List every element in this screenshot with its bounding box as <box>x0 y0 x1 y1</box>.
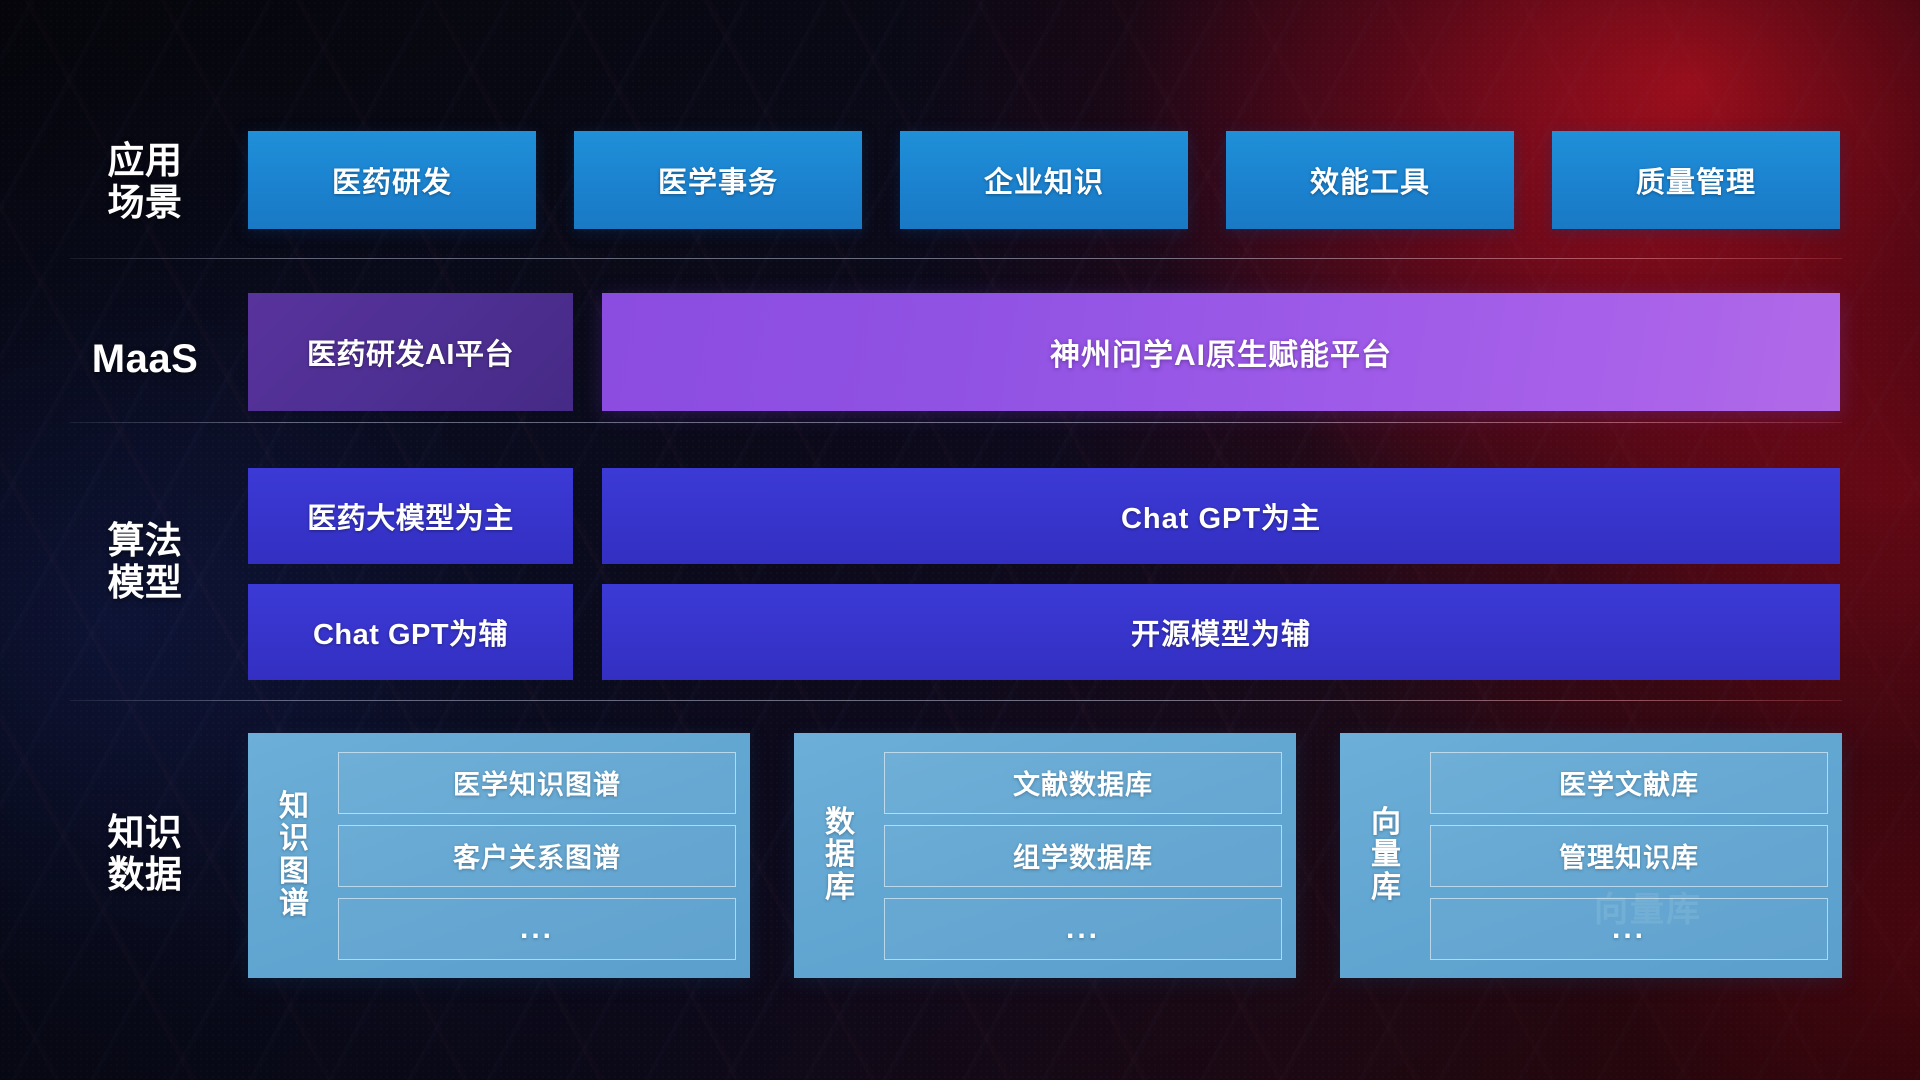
group-title-char: 向 <box>1371 807 1401 839</box>
maas-box-shenzhou-wenxue-platform[interactable]: 神州问学AI原生赋能平台 <box>602 293 1840 411</box>
group-title-char: 库 <box>825 872 855 904</box>
app-box-enterprise-knowledge[interactable]: 企业知识 <box>900 131 1188 229</box>
app-box-medical-affairs[interactable]: 医学事务 <box>574 131 862 229</box>
knowledge-group-knowledge-graph[interactable]: 知 识 图 谱 医学知识图谱 客户关系图谱 ... <box>248 733 750 978</box>
app-box-label: 医学事务 <box>658 159 778 201</box>
divider-after-maas <box>70 422 1842 423</box>
row-label-line: 知识 <box>70 812 220 854</box>
knowledge-item-label: ... <box>520 912 554 946</box>
maas-box-label: 医药研发AI平台 <box>307 331 514 373</box>
row-label-line: 模型 <box>70 562 220 604</box>
knowledge-group-database[interactable]: 数 据 库 文献数据库 组学数据库 ... <box>794 733 1296 978</box>
app-box-label: 医药研发 <box>332 159 452 201</box>
algo-box-chatgpt-secondary[interactable]: Chat GPT为辅 <box>248 584 573 680</box>
algo-box-chatgpt-primary[interactable]: Chat GPT为主 <box>602 468 1840 564</box>
group-title-char: 据 <box>825 839 855 871</box>
knowledge-group-vector-store[interactable]: 向 量 库 医学文献库 管理知识库 ... <box>1340 733 1842 978</box>
app-box-medicine-rd[interactable]: 医药研发 <box>248 131 536 229</box>
row-label-line: 算法 <box>70 520 220 562</box>
maas-box-medicine-rd-ai-platform[interactable]: 医药研发AI平台 <box>248 293 573 411</box>
algo-box-medicine-large-model-primary[interactable]: 医药大模型为主 <box>248 468 573 564</box>
knowledge-item-more[interactable]: ... <box>338 898 736 960</box>
app-box-label: 企业知识 <box>984 159 1104 201</box>
knowledge-item-label: ... <box>1066 912 1100 946</box>
group-title-char: 识 <box>279 823 309 855</box>
knowledge-item-more[interactable]: ... <box>884 898 1282 960</box>
knowledge-item-medical-literature-store[interactable]: 医学文献库 <box>1430 752 1828 814</box>
group-title-char: 知 <box>279 791 309 823</box>
row-label-application-scenarios: 应用 场景 <box>70 140 220 224</box>
algo-box-label: 开源模型为辅 <box>1131 611 1311 653</box>
group-title-char: 图 <box>279 856 309 888</box>
app-box-efficiency-tools[interactable]: 效能工具 <box>1226 131 1514 229</box>
group-title-char: 库 <box>1371 872 1401 904</box>
knowledge-item-label: 医学文献库 <box>1559 763 1699 802</box>
knowledge-item-management-knowledge-store[interactable]: 管理知识库 <box>1430 825 1828 887</box>
row-label-knowledge-data: 知识 数据 <box>70 812 220 896</box>
group-title-char: 数 <box>825 807 855 839</box>
row-label-algorithm-model: 算法 模型 <box>70 520 220 604</box>
algo-box-open-source-model-secondary[interactable]: 开源模型为辅 <box>602 584 1840 680</box>
group-title-char: 谱 <box>279 888 309 920</box>
row-label-line: 应用 <box>70 140 220 182</box>
row-label-line: 数据 <box>70 854 220 896</box>
knowledge-item-literature-database[interactable]: 文献数据库 <box>884 752 1282 814</box>
knowledge-item-omics-database[interactable]: 组学数据库 <box>884 825 1282 887</box>
knowledge-group-items: 文献数据库 组学数据库 ... <box>884 752 1282 960</box>
knowledge-item-customer-relation-graph[interactable]: 客户关系图谱 <box>338 825 736 887</box>
row-label-line: MaaS <box>70 337 220 383</box>
row-label-line: 场景 <box>70 182 220 224</box>
app-box-label: 效能工具 <box>1310 159 1430 201</box>
knowledge-group-items: 医学文献库 管理知识库 ... <box>1430 752 1828 960</box>
diagram-content: 应用 场景 医药研发 医学事务 企业知识 效能工具 质量管理 MaaS 医药研发… <box>0 0 1920 1080</box>
knowledge-group-title-knowledge-graph: 知 识 图 谱 <box>264 791 324 921</box>
row-label-maas: MaaS <box>70 337 220 383</box>
diagram-canvas: 应用 场景 医药研发 医学事务 企业知识 效能工具 质量管理 MaaS 医药研发… <box>0 0 1920 1080</box>
algo-box-label: 医药大模型为主 <box>307 495 514 537</box>
knowledge-group-items: 医学知识图谱 客户关系图谱 ... <box>338 752 736 960</box>
divider-after-algorithm-model <box>70 700 1842 701</box>
knowledge-group-title-database: 数 据 库 <box>810 807 870 904</box>
knowledge-item-label: 管理知识库 <box>1559 836 1699 875</box>
knowledge-group-title-vector-store: 向 量 库 <box>1356 807 1416 904</box>
algo-box-label: Chat GPT为辅 <box>313 611 508 653</box>
group-title-char: 量 <box>1371 839 1401 871</box>
knowledge-item-label: 文献数据库 <box>1013 763 1153 802</box>
knowledge-item-label: 医学知识图谱 <box>453 763 621 802</box>
knowledge-item-label: 客户关系图谱 <box>453 836 621 875</box>
app-box-label: 质量管理 <box>1636 159 1756 201</box>
knowledge-item-medical-knowledge-graph[interactable]: 医学知识图谱 <box>338 752 736 814</box>
knowledge-item-label: ... <box>1612 912 1646 946</box>
knowledge-item-more[interactable]: ... <box>1430 898 1828 960</box>
algo-box-label: Chat GPT为主 <box>1121 495 1321 537</box>
maas-box-label: 神州问学AI原生赋能平台 <box>1050 330 1392 374</box>
divider-after-application-scenarios <box>70 258 1842 259</box>
app-box-quality-management[interactable]: 质量管理 <box>1552 131 1840 229</box>
knowledge-item-label: 组学数据库 <box>1013 836 1153 875</box>
